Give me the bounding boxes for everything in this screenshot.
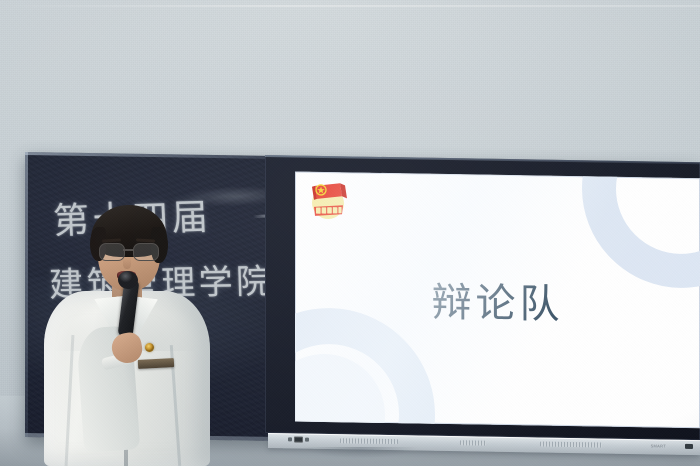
- presenter-nose: [123, 257, 131, 269]
- speaker-grille-center: [460, 440, 486, 445]
- display-control-cluster[interactable]: [288, 436, 309, 442]
- wall-seam-line: [0, 5, 700, 7]
- name-tag: [138, 358, 174, 369]
- lapel-pin-badge: [145, 343, 154, 352]
- glasses-bridge: [123, 249, 133, 251]
- ir-sensor-icon: [294, 436, 303, 442]
- display-brand-mark: SMART: [651, 443, 666, 448]
- slide-title: 辩论队: [295, 267, 700, 332]
- presenter: [38, 205, 218, 466]
- interactive-flat-panel[interactable]: 辩论队: [265, 155, 700, 440]
- glasses-lens-left: [99, 243, 125, 261]
- status-dot-icon: [288, 437, 292, 441]
- display-stand-shadow: [300, 447, 420, 461]
- power-led-icon: [685, 444, 693, 449]
- presentation-screen[interactable]: 辩论队: [295, 171, 700, 428]
- power-button-icon[interactable]: [305, 438, 309, 442]
- speaker-grille-right: [540, 442, 602, 448]
- classroom-scene: 第十四届 建筑管理学院 学生会 大会: [0, 0, 700, 466]
- chalkboard-left-edge: [25, 152, 28, 437]
- speaker-grille-left: [340, 438, 398, 444]
- glasses-lens-right: [133, 243, 159, 261]
- communist-youth-league-emblem: [307, 178, 351, 225]
